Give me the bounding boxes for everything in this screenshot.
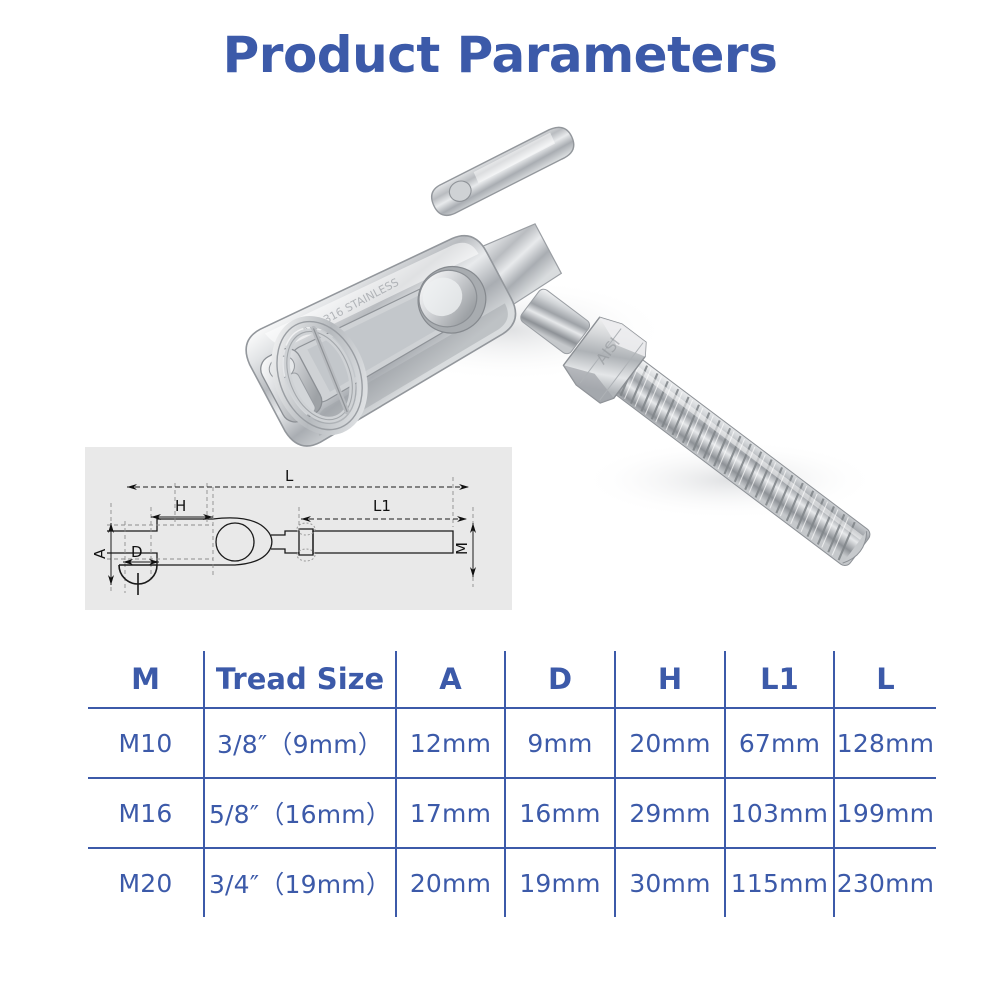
cell-a: 20mm — [396, 848, 505, 919]
header-cell-tread: Tread Size — [204, 650, 396, 709]
cell-h: 20mm — [615, 708, 725, 778]
technical-drawing: L H L1 A D M — [85, 447, 512, 610]
cell-tread: 3/4″（19mm） — [204, 848, 396, 919]
header-row: M Tread Size A D H L1 L — [87, 650, 938, 709]
cell-l: 230mm — [834, 848, 938, 919]
dimension-label-A: A — [91, 548, 109, 559]
cell-m: M16 — [87, 778, 205, 848]
cell-l1: 67mm — [725, 708, 834, 778]
cell-l1: 103mm — [725, 778, 834, 848]
header-cell-m: M — [87, 650, 205, 709]
cell-d: 16mm — [505, 778, 615, 848]
cell-l: 199mm — [834, 778, 938, 848]
cell-l: 128mm — [834, 708, 938, 778]
header-cell-l: L — [834, 650, 938, 709]
dimension-diagram: L H L1 A D M — [85, 447, 512, 610]
header-cell-d: D — [505, 650, 615, 709]
cell-tread: 3/8″（9mm） — [204, 708, 396, 778]
dimension-label-L: L — [285, 467, 294, 485]
dimension-label-M: M — [453, 542, 471, 555]
table-row: M16 5/8″（16mm） 17mm 16mm 29mm 103mm 199m… — [87, 778, 938, 848]
cell-l1: 115mm — [725, 848, 834, 919]
table-row: M10 3/8″（9mm） 12mm 9mm 20mm 67mm 128mm — [87, 708, 938, 778]
product-parameters-table: M Tread Size A D H L1 L M10 3/8″（9mm） 12… — [85, 648, 939, 920]
cell-m: M20 — [87, 848, 205, 919]
dimension-label-D: D — [131, 543, 143, 561]
cell-tread: 5/8″（16mm） — [204, 778, 396, 848]
dimension-label-H: H — [175, 497, 186, 515]
spec-table-container: M Tread Size A D H L1 L M10 3/8″（9mm） 12… — [85, 648, 921, 912]
header-cell-l1: L1 — [725, 650, 834, 709]
cell-a: 17mm — [396, 778, 505, 848]
table-body: M10 3/8″（9mm） 12mm 9mm 20mm 67mm 128mm M… — [87, 708, 938, 919]
cell-h: 30mm — [615, 848, 725, 919]
dimension-label-L1: L1 — [373, 497, 391, 515]
table-header: M Tread Size A D H L1 L — [87, 650, 938, 709]
table-row: M20 3/4″（19mm） 20mm 19mm 30mm 115mm 230m… — [87, 848, 938, 919]
cell-d: 9mm — [505, 708, 615, 778]
header-cell-h: H — [615, 650, 725, 709]
cell-a: 12mm — [396, 708, 505, 778]
header-cell-a: A — [396, 650, 505, 709]
cell-h: 29mm — [615, 778, 725, 848]
page-title: Product Parameters — [0, 30, 1000, 80]
cell-d: 19mm — [505, 848, 615, 919]
cell-m: M10 — [87, 708, 205, 778]
